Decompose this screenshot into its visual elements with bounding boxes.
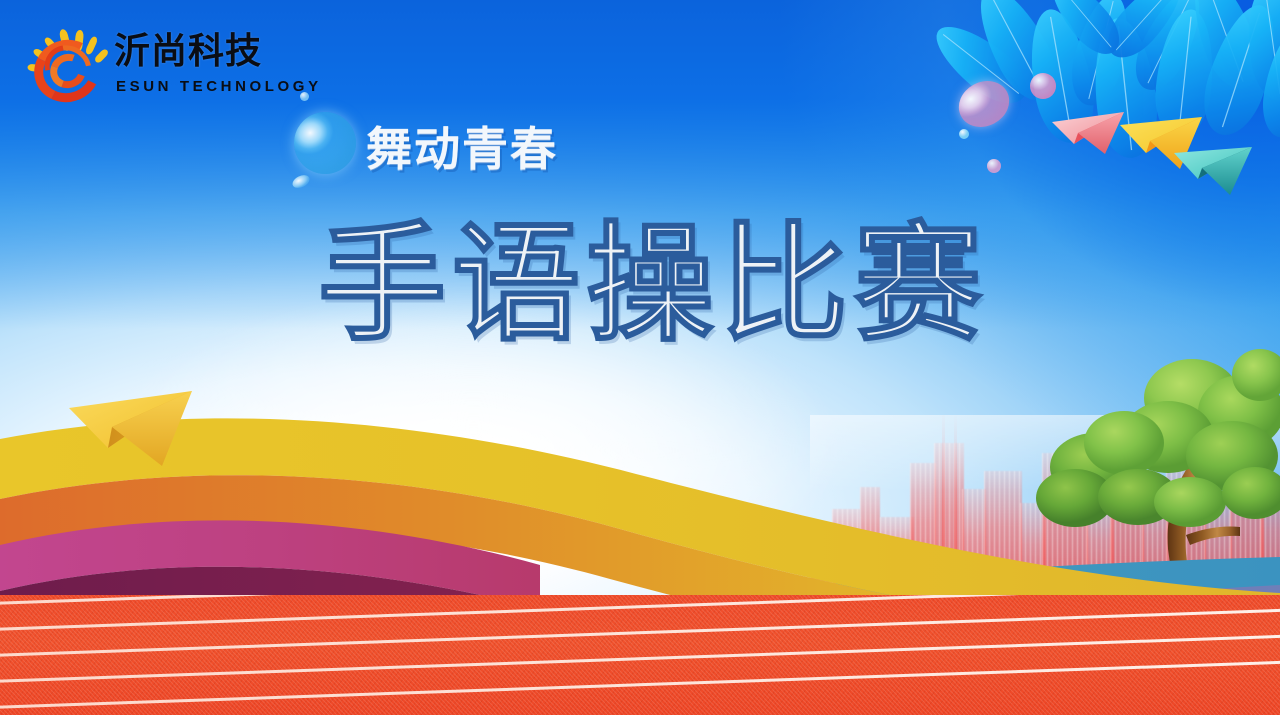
bubble-dot-b: [987, 159, 1001, 173]
running-track: [0, 595, 1280, 715]
bubble-dot-a: [959, 129, 969, 139]
event-title: 手语操比赛: [318, 216, 988, 354]
bubble-pink-small: [1030, 73, 1056, 99]
brand-logo[interactable]: 沂尚科技 ESUN TECHNOLOGY: [22, 20, 322, 108]
logo-name-en: ESUN TECHNOLOGY: [116, 78, 322, 95]
paper-plane-pink: [1050, 110, 1128, 156]
poster-canvas: 沂尚科技 ESUN TECHNOLOGY 舞动青春 手语操比赛: [0, 0, 1280, 715]
logo-name-cn: 沂尚科技: [114, 34, 262, 70]
paper-plane-teal: [1172, 145, 1256, 197]
track-texture: [0, 595, 1280, 715]
paper-plane-yellow-large: [64, 382, 204, 472]
tree-canopy: [1232, 349, 1280, 401]
sun-swirl-logo-icon: [28, 28, 106, 104]
event-subtitle: 舞动青春: [366, 126, 558, 172]
